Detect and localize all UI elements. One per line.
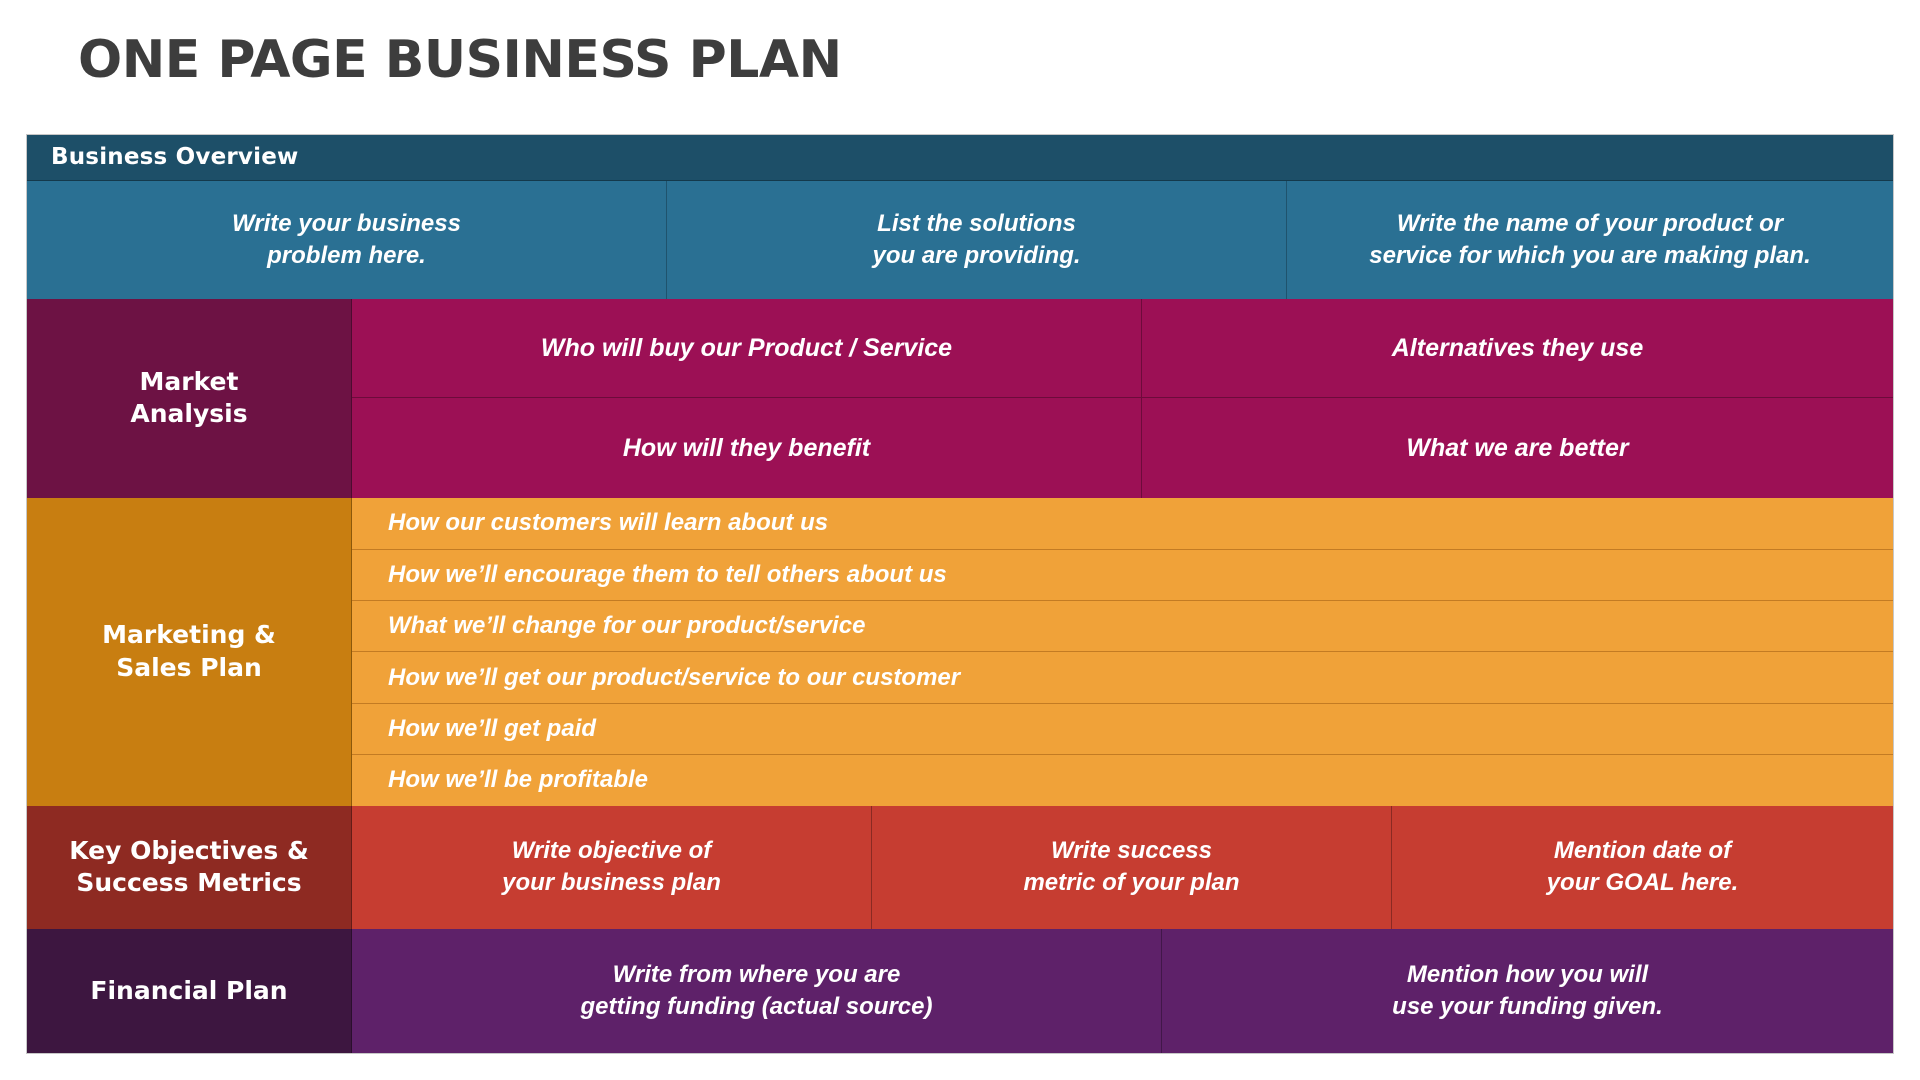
marketing-sales-plan-content: How our customers will learn about us Ho… (352, 498, 1893, 805)
market-cell-who-will-buy[interactable]: Who will buy our Product / Service (352, 299, 1142, 398)
market-cell-alternatives[interactable]: Alternatives they use (1142, 299, 1893, 398)
page-title: ONE PAGE BUSINESS PLAN (78, 30, 842, 90)
market-analysis-content: Who will buy our Product / Service Alter… (352, 299, 1893, 499)
key-objectives-content: Write objective ofyour business plan Wri… (352, 806, 1893, 930)
marketing-row-tell-others[interactable]: How we’ll encourage them to tell others … (352, 550, 1893, 601)
financial-plan-label: Financial Plan (27, 929, 352, 1053)
marketing-row-get-paid[interactable]: How we’ll get paid (352, 704, 1893, 755)
business-plan-page: ONE PAGE BUSINESS PLAN Business Overview… (0, 0, 1920, 1080)
overview-cell-product-name[interactable]: Write the name of your product orservice… (1287, 181, 1893, 299)
marketing-sales-plan-label: Marketing &Sales Plan (27, 498, 352, 805)
market-analysis-subrow-2: How will they benefit What we are better (352, 398, 1893, 498)
market-analysis-subrow-1: Who will buy our Product / Service Alter… (352, 299, 1893, 399)
marketing-row-be-profitable[interactable]: How we’ll be profitable (352, 755, 1893, 805)
business-overview-header-label: Business Overview (51, 144, 298, 170)
overview-cell-solutions[interactable]: List the solutionsyou are providing. (667, 181, 1287, 299)
key-objectives-row: Key Objectives &Success Metrics Write ob… (27, 806, 1893, 930)
market-analysis-label: MarketAnalysis (27, 299, 352, 499)
financial-cell-funding-use[interactable]: Mention how you willuse your funding giv… (1162, 929, 1893, 1053)
market-analysis-row: MarketAnalysis Who will buy our Product … (27, 299, 1893, 499)
market-cell-how-benefit[interactable]: How will they benefit (352, 398, 1142, 498)
financial-plan-content: Write from where you aregetting funding … (352, 929, 1893, 1053)
business-overview-row: Write your businessproblem here. List th… (27, 181, 1893, 299)
marketing-row-learn-about-us[interactable]: How our customers will learn about us (352, 498, 1893, 549)
market-cell-what-we-are-better[interactable]: What we are better (1142, 398, 1893, 498)
financial-cell-funding-source[interactable]: Write from where you aregetting funding … (352, 929, 1162, 1053)
objectives-cell-objective[interactable]: Write objective ofyour business plan (352, 806, 872, 930)
key-objectives-label: Key Objectives &Success Metrics (27, 806, 352, 930)
marketing-row-change-product[interactable]: What we’ll change for our product/servic… (352, 601, 1893, 652)
objectives-cell-goal-date[interactable]: Mention date ofyour GOAL here. (1392, 806, 1893, 930)
one-page-business-plan-table: Business Overview Write your businesspro… (26, 134, 1894, 1054)
marketing-row-deliver-to-customer[interactable]: How we’ll get our product/service to our… (352, 652, 1893, 703)
objectives-cell-success-metric[interactable]: Write successmetric of your plan (872, 806, 1392, 930)
marketing-sales-plan-row: Marketing &Sales Plan How our customers … (27, 498, 1893, 805)
financial-plan-row: Financial Plan Write from where you areg… (27, 929, 1893, 1053)
business-overview-header: Business Overview (27, 135, 1893, 181)
overview-cell-problem[interactable]: Write your businessproblem here. (27, 181, 667, 299)
